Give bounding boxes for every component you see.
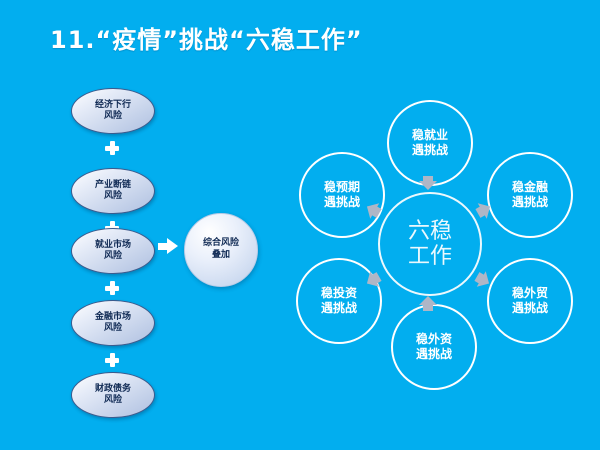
combined-risk-circle: 综合风险 叠加	[184, 213, 258, 287]
risk-oval-job-market: 就业市场 风险	[71, 228, 155, 274]
risk-oval-line1: 金融市场	[95, 312, 131, 323]
slide-canvas: 11.“疫情”挑战“六稳工作” 经济下行 风险 产业断链 风险 就业市场 风险 …	[0, 0, 600, 450]
risk-oval-line2: 风险	[104, 323, 122, 334]
hub-line1: 六稳	[408, 219, 452, 244]
spoke-line2: 遇挑战	[324, 195, 360, 210]
right-arrow-icon	[158, 238, 178, 254]
spoke-line1: 稳外资	[416, 332, 452, 347]
spoke-line2: 遇挑战	[416, 347, 452, 362]
risk-oval-economy: 经济下行 风险	[71, 88, 155, 134]
spoke-line1: 稳金融	[512, 180, 548, 195]
spoke-line2: 遇挑战	[512, 195, 548, 210]
plus-icon-1	[105, 141, 119, 155]
combined-risk-line2: 叠加	[212, 250, 230, 262]
inward-arrow-icon-top	[419, 176, 437, 190]
hub-circle-six-stabilities: 六稳 工作	[378, 192, 482, 296]
hub-line2: 工作	[408, 244, 452, 269]
risk-oval-line2: 风险	[104, 251, 122, 262]
risk-oval-line2: 风险	[104, 191, 122, 202]
inward-arrow-icon-bottom	[419, 297, 437, 311]
spoke-circle-expectations: 稳预期 遇挑战	[299, 152, 385, 238]
arrow-head	[167, 238, 178, 254]
risk-oval-industry-chain: 产业断链 风险	[71, 168, 155, 214]
risk-oval-line1: 就业市场	[95, 240, 131, 251]
slide-title: 11.“疫情”挑战“六稳工作”	[50, 20, 363, 55]
risk-oval-fiscal-debt: 财政债务 风险	[71, 372, 155, 418]
spoke-circle-foreign-investment: 稳外资 遇挑战	[391, 304, 477, 390]
spoke-line1: 稳就业	[412, 128, 448, 143]
spoke-line1: 稳预期	[324, 180, 360, 195]
spoke-line2: 遇挑战	[512, 301, 548, 316]
risk-oval-line1: 产业断链	[95, 180, 131, 191]
risk-oval-line1: 经济下行	[95, 100, 131, 111]
risk-oval-line1: 财政债务	[95, 384, 131, 395]
spoke-line1: 稳投资	[321, 286, 357, 301]
risk-oval-line2: 风险	[104, 111, 122, 122]
spoke-circle-finance: 稳金融 遇挑战	[487, 152, 573, 238]
risk-oval-financial-market: 金融市场 风险	[71, 300, 155, 346]
plus-icon-4	[105, 353, 119, 367]
spoke-circle-foreign-trade: 稳外贸 遇挑战	[487, 258, 573, 344]
plus-icon-3	[105, 281, 119, 295]
spoke-line2: 遇挑战	[412, 143, 448, 158]
spoke-line1: 稳外贸	[512, 286, 548, 301]
risk-oval-line2: 风险	[104, 395, 122, 406]
spoke-circle-employment: 稳就业 遇挑战	[387, 100, 473, 186]
combined-risk-line1: 综合风险	[203, 238, 239, 250]
spoke-line2: 遇挑战	[321, 301, 357, 316]
